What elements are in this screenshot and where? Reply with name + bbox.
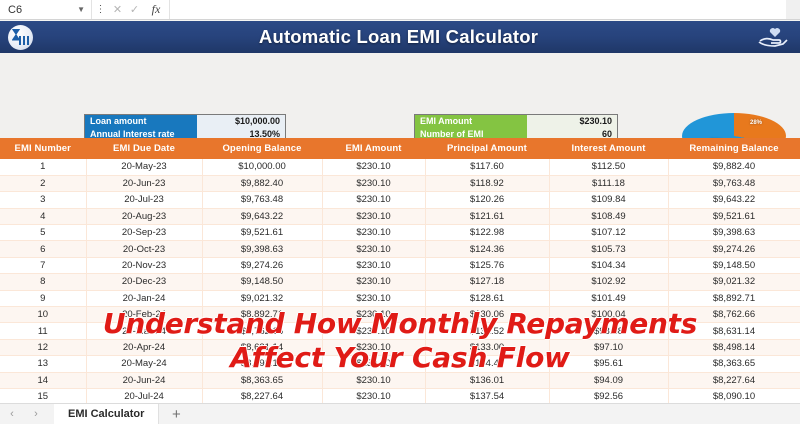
cell-remaining-balance[interactable]: $9,643.22	[668, 192, 800, 208]
cell-remaining-balance[interactable]: $9,398.63	[668, 225, 800, 241]
add-sheet-button[interactable]: +	[159, 404, 193, 424]
cell-emi-number[interactable]: 2	[0, 175, 86, 191]
cell-opening-balance[interactable]: $9,882.40	[202, 175, 322, 191]
cell-interest-amount[interactable]: $105.73	[549, 241, 668, 257]
sheet-tab-bar: ‹ › EMI Calculator +	[0, 403, 800, 424]
cell-principal-amount[interactable]: $124.36	[425, 241, 549, 257]
cell-remaining-balance[interactable]: $8,631.14	[668, 323, 800, 339]
formula-input[interactable]	[169, 0, 786, 19]
cell-emi-due-date[interactable]: 20-May-23	[86, 159, 202, 175]
column-header-remaining-balance[interactable]: Remaining Balance	[668, 138, 800, 159]
hand-holding-money-icon	[752, 24, 794, 50]
loan-input-label: Loan amount	[85, 115, 197, 128]
amortization-table-container: EMI Number EMI Due Date Opening Balance …	[0, 138, 800, 400]
cell-interest-amount[interactable]: $102.92	[549, 274, 668, 290]
table-row[interactable]: 1020-Feb-24$8,892.71$230.10$130.06$100.0…	[0, 307, 800, 323]
cell-principal-amount[interactable]: $125.76	[425, 257, 549, 273]
column-header-emi-due-date[interactable]: EMI Due Date	[86, 138, 202, 159]
column-header-emi-amount[interactable]: EMI Amount	[322, 138, 425, 159]
cell-interest-amount[interactable]: $100.04	[549, 307, 668, 323]
column-header-interest-amount[interactable]: Interest Amount	[549, 138, 668, 159]
summary-row: EMI Amount $230.10	[415, 115, 617, 128]
cell-remaining-balance[interactable]: $8,498.14	[668, 339, 800, 355]
column-header-principal-amount[interactable]: Principal Amount	[425, 138, 549, 159]
cell-emi-due-date[interactable]: 20-Apr-24	[86, 339, 202, 355]
cell-emi-amount[interactable]: $230.10	[322, 257, 425, 273]
cell-interest-amount[interactable]: $112.50	[549, 159, 668, 175]
cell-remaining-balance[interactable]: $9,021.32	[668, 274, 800, 290]
cell-principal-amount[interactable]: $134.49	[425, 356, 549, 372]
pie-label-interest: 28%	[750, 120, 762, 126]
input-summary-strip: Loan amount $10,000.00 Annual Interest r…	[0, 53, 800, 138]
cell-principal-amount[interactable]: $128.61	[425, 290, 549, 306]
cell-emi-number[interactable]: 1	[0, 159, 86, 175]
table-row[interactable]: 1420-Jun-24$8,363.65$230.10$136.01$94.09…	[0, 372, 800, 388]
cell-emi-number[interactable]: 7	[0, 257, 86, 273]
cell-opening-balance[interactable]: $8,892.71	[202, 307, 322, 323]
cell-opening-balance[interactable]: $9,521.61	[202, 225, 322, 241]
table-body: 120-May-23$10,000.00$230.10$117.60$112.5…	[0, 159, 800, 421]
chevron-right-icon[interactable]: ›	[24, 404, 48, 424]
fx-icon[interactable]: fx	[143, 0, 169, 19]
cell-opening-balance[interactable]: $9,398.63	[202, 241, 322, 257]
cell-principal-amount[interactable]: $133.00	[425, 339, 549, 355]
cell-interest-amount[interactable]: $101.49	[549, 290, 668, 306]
cell-interest-amount[interactable]: $111.18	[549, 175, 668, 191]
cell-interest-amount[interactable]: $94.09	[549, 372, 668, 388]
cell-emi-amount[interactable]: $230.10	[322, 339, 425, 355]
cell-emi-number[interactable]: 4	[0, 208, 86, 224]
cell-interest-amount[interactable]: $98.58	[549, 323, 668, 339]
cell-emi-number[interactable]: 12	[0, 339, 86, 355]
cell-interest-amount[interactable]: $104.34	[549, 257, 668, 273]
cell-principal-amount[interactable]: $120.26	[425, 192, 549, 208]
table-row[interactable]: 1320-May-24$8,498.14$230.10$134.49$95.61…	[0, 356, 800, 372]
cell-emi-amount[interactable]: $230.10	[322, 372, 425, 388]
table-row[interactable]: 420-Aug-23$9,643.22$230.10$121.61$108.49…	[0, 208, 800, 224]
loan-input-row: Loan amount $10,000.00	[85, 115, 285, 128]
summary-label: EMI Amount	[415, 115, 527, 128]
cell-emi-due-date[interactable]: 20-Jun-23	[86, 175, 202, 191]
table-row[interactable]: 920-Jan-24$9,021.32$230.10$128.61$101.49…	[0, 290, 800, 306]
cell-emi-due-date[interactable]: 20-Jul-23	[86, 192, 202, 208]
cell-opening-balance[interactable]: $9,274.26	[202, 257, 322, 273]
cell-opening-balance[interactable]: $10,000.00	[202, 159, 322, 175]
table-row[interactable]: 320-Jul-23$9,763.48$230.10$120.26$109.84…	[0, 192, 800, 208]
spreadsheet-app: C6 ▼ ⋮ ✕ ✓ fx Automatic Loan EMI Calcula…	[0, 0, 800, 424]
cell-emi-number[interactable]: 9	[0, 290, 86, 306]
table-row[interactable]: 620-Oct-23$9,398.63$230.10$124.36$105.73…	[0, 241, 800, 257]
cell-emi-number[interactable]: 14	[0, 372, 86, 388]
cell-interest-amount[interactable]: $109.84	[549, 192, 668, 208]
cell-emi-due-date[interactable]: 20-Jun-24	[86, 372, 202, 388]
cell-emi-amount[interactable]: $230.10	[322, 175, 425, 191]
cell-emi-number[interactable]: 11	[0, 323, 86, 339]
cell-emi-due-date[interactable]: 20-Mar-24	[86, 323, 202, 339]
cell-interest-amount[interactable]: $108.49	[549, 208, 668, 224]
app-title-bar: Automatic Loan EMI Calculator	[0, 21, 800, 53]
cell-principal-amount[interactable]: $131.52	[425, 323, 549, 339]
name-box[interactable]: C6 ▼	[0, 0, 92, 19]
cell-remaining-balance[interactable]: $8,227.64	[668, 372, 800, 388]
cancel-x-icon[interactable]: ✕	[109, 0, 126, 19]
cell-opening-balance[interactable]: $8,498.14	[202, 356, 322, 372]
cell-emi-due-date[interactable]: 20-Dec-23	[86, 274, 202, 290]
cell-principal-amount[interactable]: $130.06	[425, 307, 549, 323]
table-row[interactable]: 720-Nov-23$9,274.26$230.10$125.76$104.34…	[0, 257, 800, 273]
column-header-emi-number[interactable]: EMI Number	[0, 138, 86, 159]
app-logo-icon	[5, 24, 35, 50]
cell-emi-due-date[interactable]: 20-May-24	[86, 356, 202, 372]
confirm-check-icon[interactable]: ✓	[126, 0, 143, 19]
cell-remaining-balance[interactable]: $9,521.61	[668, 208, 800, 224]
cell-interest-amount[interactable]: $107.12	[549, 225, 668, 241]
cell-emi-number[interactable]: 10	[0, 307, 86, 323]
cell-emi-amount[interactable]: $230.10	[322, 274, 425, 290]
table-row[interactable]: 120-May-23$10,000.00$230.10$117.60$112.5…	[0, 159, 800, 175]
cell-remaining-balance[interactable]: $9,274.26	[668, 241, 800, 257]
page-title: Automatic Loan EMI Calculator	[35, 26, 752, 48]
cell-opening-balance[interactable]: $9,763.48	[202, 192, 322, 208]
table-header-row: EMI Number EMI Due Date Opening Balance …	[0, 138, 800, 159]
table-row[interactable]: 520-Sep-23$9,521.61$230.10$122.98$107.12…	[0, 225, 800, 241]
cell-emi-number[interactable]: 6	[0, 241, 86, 257]
cell-opening-balance[interactable]: $9,148.50	[202, 274, 322, 290]
cell-remaining-balance[interactable]: $9,148.50	[668, 257, 800, 273]
chevron-left-icon[interactable]: ‹	[0, 404, 24, 424]
cell-emi-amount[interactable]: $230.10	[322, 356, 425, 372]
cell-principal-amount[interactable]: $122.98	[425, 225, 549, 241]
cell-emi-amount[interactable]: $230.10	[322, 159, 425, 175]
table-row[interactable]: 820-Dec-23$9,148.50$230.10$127.18$102.92…	[0, 274, 800, 290]
cell-principal-amount[interactable]: $118.92	[425, 175, 549, 191]
cell-remaining-balance[interactable]: $9,763.48	[668, 175, 800, 191]
cell-emi-due-date[interactable]: 20-Feb-24	[86, 307, 202, 323]
cell-opening-balance[interactable]: $9,021.32	[202, 290, 322, 306]
cell-opening-balance[interactable]: $8,363.65	[202, 372, 322, 388]
formula-bar: C6 ▼ ⋮ ✕ ✓ fx	[0, 0, 800, 20]
cell-interest-amount[interactable]: $95.61	[549, 356, 668, 372]
cell-opening-balance[interactable]: $8,762.66	[202, 323, 322, 339]
cell-emi-number[interactable]: 3	[0, 192, 86, 208]
cell-remaining-balance[interactable]: $8,363.65	[668, 356, 800, 372]
cell-emi-amount[interactable]: $230.10	[322, 192, 425, 208]
cell-principal-amount[interactable]: $117.60	[425, 159, 549, 175]
amortization-table: EMI Number EMI Due Date Opening Balance …	[0, 138, 800, 422]
cell-emi-due-date[interactable]: 20-Nov-23	[86, 257, 202, 273]
column-header-opening-balance[interactable]: Opening Balance	[202, 138, 322, 159]
summary-value: $230.10	[527, 115, 617, 128]
cell-principal-amount[interactable]: $136.01	[425, 372, 549, 388]
cell-opening-balance[interactable]: $9,643.22	[202, 208, 322, 224]
table-row[interactable]: 220-Jun-23$9,882.40$230.10$118.92$111.18…	[0, 175, 800, 191]
cell-principal-amount[interactable]: $127.18	[425, 274, 549, 290]
cell-emi-amount[interactable]: $230.10	[322, 225, 425, 241]
cell-principal-amount[interactable]: $121.61	[425, 208, 549, 224]
chevron-down-icon[interactable]: ▼	[77, 5, 85, 14]
table-row[interactable]: 1220-Apr-24$8,631.14$230.10$133.00$97.10…	[0, 339, 800, 355]
cell-emi-number[interactable]: 8	[0, 274, 86, 290]
cell-emi-amount[interactable]: $230.10	[322, 241, 425, 257]
loan-input-value[interactable]: $10,000.00	[197, 115, 285, 128]
name-box-value: C6	[8, 4, 22, 16]
cell-emi-due-date[interactable]: 20-Sep-23	[86, 225, 202, 241]
cell-emi-due-date[interactable]: 20-Jan-24	[86, 290, 202, 306]
formula-bar-expand[interactable]	[786, 0, 800, 19]
sheet-tab-emi-calculator[interactable]: EMI Calculator	[54, 404, 159, 424]
cell-emi-amount[interactable]: $230.10	[322, 323, 425, 339]
table-row[interactable]: 1120-Mar-24$8,762.66$230.10$131.52$98.58…	[0, 323, 800, 339]
cell-interest-amount[interactable]: $97.10	[549, 339, 668, 355]
cell-emi-due-date[interactable]: 20-Oct-23	[86, 241, 202, 257]
cell-emi-amount[interactable]: $230.10	[322, 208, 425, 224]
kebab-menu-icon[interactable]: ⋮	[92, 0, 109, 19]
cell-remaining-balance[interactable]: $8,892.71	[668, 290, 800, 306]
cell-opening-balance[interactable]: $8,631.14	[202, 339, 322, 355]
cell-emi-number[interactable]: 5	[0, 225, 86, 241]
cell-remaining-balance[interactable]: $8,762.66	[668, 307, 800, 323]
cell-emi-amount[interactable]: $230.10	[322, 290, 425, 306]
cell-emi-amount[interactable]: $230.10	[322, 307, 425, 323]
cell-remaining-balance[interactable]: $9,882.40	[668, 159, 800, 175]
cell-emi-number[interactable]: 13	[0, 356, 86, 372]
cell-emi-due-date[interactable]: 20-Aug-23	[86, 208, 202, 224]
